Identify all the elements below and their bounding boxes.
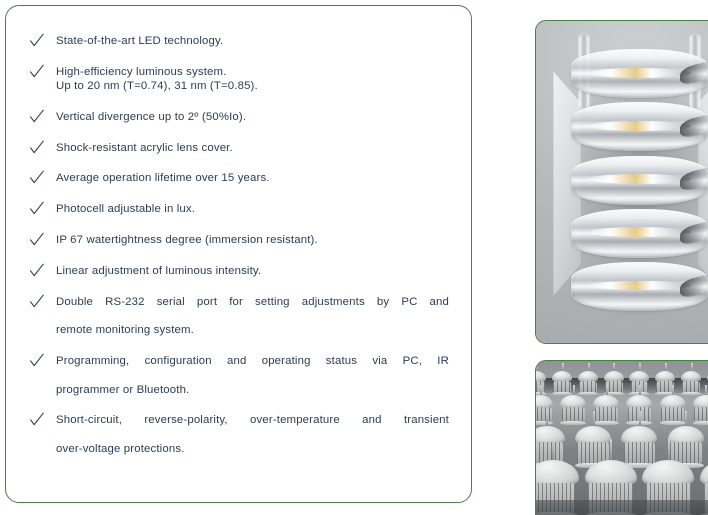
photo-content bbox=[536, 21, 708, 343]
feature-line: programmer or Bluetooth. bbox=[56, 383, 449, 397]
lens-ring bbox=[571, 156, 708, 205]
feature-line: State-of-the-art LED technology. bbox=[56, 34, 449, 48]
check-mark-icon bbox=[29, 294, 45, 309]
list-item: Programming, configuration and operating… bbox=[26, 354, 449, 397]
feature-text: Linear adjustment of luminous intensity. bbox=[56, 264, 449, 278]
beacon-body bbox=[562, 407, 585, 423]
check-mark-icon bbox=[29, 412, 45, 427]
lens-ring-stack bbox=[571, 44, 708, 324]
beacon-unit bbox=[560, 395, 586, 425]
beacon-unit bbox=[660, 395, 686, 425]
lens-ring bbox=[571, 102, 708, 151]
check-mark-icon bbox=[29, 201, 45, 216]
beacon-body bbox=[535, 407, 552, 423]
feature-line: Linear adjustment of luminous intensity. bbox=[56, 264, 449, 278]
image-column: stacked clear acrylic optical lens rings… bbox=[495, 4, 704, 511]
lens-ring bbox=[571, 209, 708, 258]
list-item: Photocell adjustable in lux. bbox=[26, 202, 449, 216]
feature-text: Average operation lifetime over 15 years… bbox=[56, 171, 449, 185]
beacon-base bbox=[693, 421, 708, 425]
warehouse-floor bbox=[536, 500, 708, 515]
list-item: Linear adjustment of luminous intensity. bbox=[26, 264, 449, 278]
feature-text: Photocell adjustable in lux. bbox=[56, 202, 449, 216]
beacon-unit bbox=[578, 371, 598, 395]
feature-line: Up to 20 nm (T=0.74), 31 nm (T=0.85). bbox=[56, 79, 449, 93]
features-panel: State-of-the-art LED technology. High-ef… bbox=[5, 5, 472, 503]
photo-content bbox=[536, 361, 708, 515]
check-mark-icon bbox=[29, 109, 45, 124]
beacon-body bbox=[579, 381, 597, 393]
check-mark-icon bbox=[29, 232, 45, 247]
feature-text: State-of-the-art LED technology. bbox=[56, 34, 449, 48]
list-item: Short-circuit, reverse-polarity, over-te… bbox=[26, 413, 449, 456]
check-mark-icon bbox=[29, 64, 45, 79]
product-features-page: State-of-the-art LED technology. High-ef… bbox=[0, 0, 708, 515]
feature-text: Vertical divergence up to 2º (50%Io). bbox=[56, 110, 449, 124]
beacon-base bbox=[535, 421, 553, 425]
feature-line: remote monitoring system. bbox=[56, 323, 449, 337]
beacon-base bbox=[593, 421, 619, 425]
feature-text: Short-circuit, reverse-polarity, over-te… bbox=[56, 413, 449, 456]
feature-line: over-voltage protections. bbox=[56, 442, 449, 456]
beacon-body bbox=[694, 407, 708, 423]
beacon-unit bbox=[535, 395, 553, 425]
feature-line: Average operation lifetime over 15 years… bbox=[56, 171, 449, 185]
feature-line: Double RS-232 serial port for setting ad… bbox=[56, 295, 449, 324]
feature-list: State-of-the-art LED technology. High-ef… bbox=[26, 34, 449, 456]
beacon-row bbox=[535, 395, 708, 425]
list-item: IP 67 watertightness degree (immersion r… bbox=[26, 233, 449, 247]
feature-line: Vertical divergence up to 2º (50%Io). bbox=[56, 110, 449, 124]
beacon-body bbox=[661, 407, 684, 423]
list-item: Vertical divergence up to 2º (50%Io). bbox=[26, 110, 449, 124]
beacon-unit bbox=[693, 395, 708, 425]
beacon-base bbox=[560, 421, 586, 425]
beacon-row bbox=[535, 371, 708, 395]
beacon-base bbox=[660, 421, 686, 425]
check-mark-icon bbox=[29, 263, 45, 278]
feature-text: IP 67 watertightness degree (immersion r… bbox=[56, 233, 449, 247]
check-mark-icon bbox=[29, 353, 45, 368]
beacon-unit bbox=[552, 371, 572, 395]
feature-text: Programming, configuration and operating… bbox=[56, 354, 449, 397]
feature-line: Shock-resistant acrylic lens cover. bbox=[56, 141, 449, 155]
feature-text: High-efficiency luminous system. Up to 2… bbox=[56, 65, 449, 94]
lens-ring bbox=[571, 49, 708, 98]
check-mark-icon bbox=[29, 33, 45, 48]
list-item: Average operation lifetime over 15 years… bbox=[26, 171, 449, 185]
led-beacon-units-photo: rows of cylindrical LED marine beacon la… bbox=[535, 360, 708, 515]
feature-line: Short-circuit, reverse-polarity, over-te… bbox=[56, 413, 449, 442]
beacon-body bbox=[682, 381, 700, 393]
list-item: Double RS-232 serial port for setting ad… bbox=[26, 295, 449, 338]
acrylic-lens-assembly-photo: stacked clear acrylic optical lens rings… bbox=[535, 20, 708, 344]
beacon-body bbox=[595, 407, 618, 423]
beacon-unit bbox=[681, 371, 701, 395]
feature-text: Shock-resistant acrylic lens cover. bbox=[56, 141, 449, 155]
list-item: State-of-the-art LED technology. bbox=[26, 34, 449, 48]
beacon-unit bbox=[593, 395, 619, 425]
feature-text: Double RS-232 serial port for setting ad… bbox=[56, 295, 449, 338]
feature-line: Programming, configuration and operating… bbox=[56, 354, 449, 383]
feature-line: High-efficiency luminous system. bbox=[56, 65, 449, 79]
check-mark-icon bbox=[29, 140, 45, 155]
list-item: High-efficiency luminous system. Up to 2… bbox=[26, 65, 449, 94]
feature-line: IP 67 watertightness degree (immersion r… bbox=[56, 233, 449, 247]
list-item: Shock-resistant acrylic lens cover. bbox=[26, 141, 449, 155]
lens-ring bbox=[571, 262, 708, 311]
check-mark-icon bbox=[29, 170, 45, 185]
feature-line: Photocell adjustable in lux. bbox=[56, 202, 449, 216]
beacon-body bbox=[553, 381, 571, 393]
